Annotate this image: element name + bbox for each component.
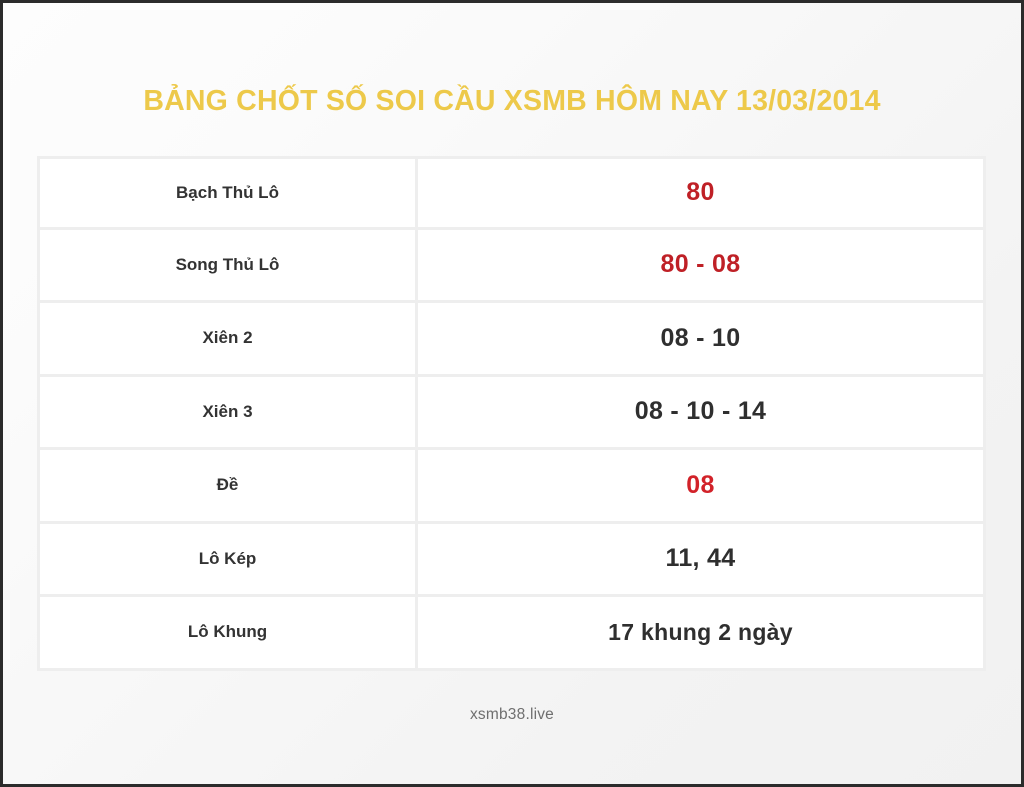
row-value: 80 - 08 [418,230,986,301]
row-value: 17 khung 2 ngày [418,597,986,668]
row-value: 08 [418,450,986,521]
table-row: Đề 08 [37,450,986,524]
row-label: Lô Kép [37,524,418,595]
row-label: Xiên 3 [37,377,418,448]
row-label: Lô Khung [37,597,418,668]
row-label: Đề [37,450,418,521]
table-row: Lô Kép 11, 44 [37,524,986,598]
row-value: 08 - 10 - 14 [418,377,986,448]
table-row: Xiên 2 08 - 10 [37,303,986,377]
table-row: Lô Khung 17 khung 2 ngày [37,597,986,671]
table-row: Bạch Thủ Lô 80 [37,156,986,230]
prediction-table: Bạch Thủ Lô 80 Song Thủ Lô 80 - 08 Xiên … [37,156,986,671]
site-watermark: xsmb38.live [3,706,1021,724]
row-value: 08 - 10 [418,303,986,374]
row-label: Bạch Thủ Lô [37,159,418,227]
table-row: Xiên 3 08 - 10 - 14 [37,377,986,451]
row-value: 11, 44 [418,524,986,595]
page-title: BẢNG CHỐT SỐ SOI CẦU XSMB HÔM NAY 13/03/… [3,85,1021,118]
table-row: Song Thủ Lô 80 - 08 [37,230,986,304]
poster-canvas: BẢNG CHỐT SỐ SOI CẦU XSMB HÔM NAY 13/03/… [3,3,1021,784]
row-label: Xiên 2 [37,303,418,374]
row-value: 80 [418,159,986,227]
row-label: Song Thủ Lô [37,230,418,301]
